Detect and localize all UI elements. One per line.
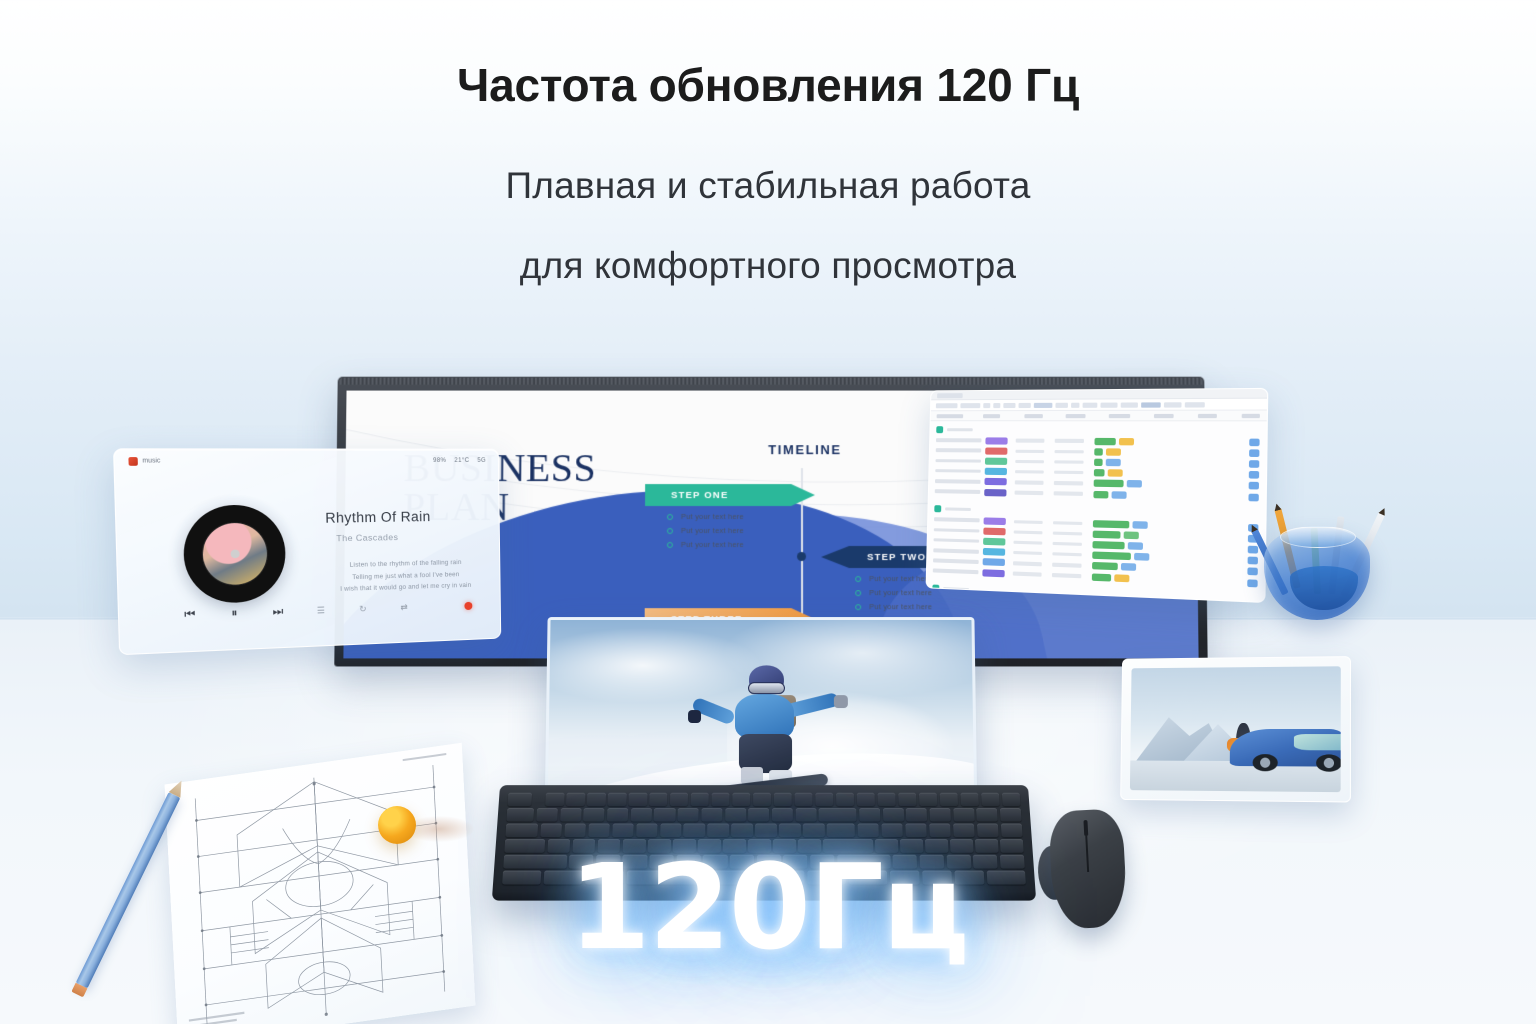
row-label [935,489,981,493]
key[interactable] [507,793,531,806]
mini-bar [1108,469,1123,477]
record-button[interactable] [464,601,472,609]
key[interactable] [929,808,951,821]
toolbar-button[interactable] [1164,402,1182,407]
key[interactable] [755,824,776,837]
cell-text [1055,439,1084,443]
far-bar [1249,438,1259,446]
gantt-bar [1094,469,1105,476]
pencil-tip [1378,507,1387,516]
goggles [748,682,785,694]
group-name [947,428,973,432]
bullet-ring-icon [855,590,861,596]
sheet-group [927,500,1266,593]
car-body [1230,729,1341,767]
left-glove [688,711,701,723]
vinyl-hole [231,550,239,558]
cell-text [1053,542,1082,546]
step-bullets: Put your text here Put your text here Pu… [645,512,815,549]
row-label [936,438,982,442]
key[interactable] [929,824,951,837]
sheet-group [929,421,1267,507]
cell-text [1015,470,1044,474]
key[interactable] [691,793,709,806]
far-bar [1248,546,1258,554]
key[interactable] [803,824,824,837]
gantt-bar [1092,562,1118,570]
key[interactable] [545,793,564,806]
status-badge [984,517,1006,525]
column-header[interactable] [1154,413,1174,417]
spreadsheet-toolbar[interactable] [931,399,1267,412]
cell-text [1013,561,1042,566]
cell-text [1015,480,1044,484]
cell-text [1052,563,1081,568]
cell-text [1054,450,1083,454]
mini-bar [1134,553,1149,561]
row-label [935,459,981,463]
key[interactable] [506,808,534,821]
key[interactable] [772,808,793,821]
toolbar-button[interactable] [983,403,990,408]
key[interactable] [905,824,927,837]
far-bar [1247,579,1257,587]
status-badge [985,437,1007,444]
keyboard-row [505,824,1022,837]
page-title: Частота обновления 120 Гц [0,58,1536,112]
bullet-ring-icon [667,541,673,547]
key[interactable] [566,793,585,806]
pause-icon[interactable]: ⏸ [212,606,256,621]
mini-bar [1127,480,1142,488]
toolbar-button[interactable] [936,403,958,408]
mini-bar [1106,448,1121,455]
status-badge [983,538,1005,546]
key[interactable] [774,793,792,806]
key[interactable] [898,793,917,806]
key[interactable] [794,793,812,806]
status-badge [982,569,1004,577]
cell-text [1015,460,1044,464]
cup-inner-shadow [1290,566,1358,610]
gantt-bar [1092,552,1131,561]
playlist-icon[interactable]: ☰ [299,604,342,617]
column-header[interactable] [1198,413,1216,417]
cell-text [1053,521,1082,525]
key[interactable] [588,824,610,837]
row-label [934,518,980,523]
cell-text [1054,481,1083,485]
mini-bar [1119,438,1134,445]
cell-text [1013,541,1042,545]
key[interactable] [684,824,706,837]
mini-bar [1121,563,1136,571]
list-item: Put your text here [667,526,815,535]
mini-bar [1128,542,1143,550]
row-label [935,469,981,473]
group-color-swatch [936,426,943,433]
row-label [936,449,982,453]
music-window-titlebar: music 98% 21°C 5G [114,449,498,473]
key[interactable] [670,793,688,806]
cell-text [1053,531,1082,535]
key[interactable] [906,808,927,821]
group-color-swatch [934,505,941,512]
status-badge [985,468,1007,475]
key[interactable] [981,793,1000,806]
key[interactable] [636,824,658,837]
cell-text [1052,573,1081,578]
lyric-line: I wish that it would go and let me cry i… [308,581,502,594]
key[interactable] [708,824,729,837]
row-label [934,538,980,543]
status-indicators: 98% 21°C 5G [433,458,486,464]
photo-panel[interactable] [1120,656,1351,802]
toolbar-button[interactable] [993,403,1000,408]
timeline-heading: TIMELINE [675,442,935,457]
lyric-line: Listen to the rhythm of the falling rain [307,558,501,570]
column-header[interactable] [1066,414,1085,418]
music-player-window[interactable]: music 98% 21°C 5G Rhythm Of Rain The Cas… [113,448,501,655]
toolbar-button[interactable] [1003,402,1015,407]
app-name: music [142,458,160,465]
key[interactable] [836,793,854,806]
key[interactable] [919,793,938,806]
toolbar-button[interactable] [1018,402,1030,407]
cup-rim [1280,526,1356,548]
bullet-text: Put your text here [681,540,744,549]
mini-bar [1106,459,1121,466]
hero-subtitle-line-2: для комфортного просмотра [0,245,1536,287]
toolbar-button[interactable] [1121,402,1138,407]
bullet-text: Put your text here [681,512,744,521]
backspace-key[interactable] [819,808,857,821]
car-wheel [1317,755,1341,772]
gantt-bar [1094,459,1103,466]
car-window [1294,734,1341,750]
cell-text [1016,439,1045,443]
far-bar [1249,449,1259,457]
refresh-rate-badge: 120Гц [0,838,1536,976]
bullet-text: Put your text here [869,602,932,611]
gantt-bar [1094,448,1103,455]
toolbar-button[interactable] [1141,402,1161,407]
row-label [933,569,979,574]
row-label [935,479,981,483]
key[interactable] [1000,824,1022,837]
list-item: Put your text here [855,602,1021,611]
next-track-icon[interactable]: ⏭ [256,605,300,620]
key[interactable] [628,793,647,806]
key[interactable] [976,824,998,837]
gantt-bar [1094,437,1115,444]
album-art [182,504,286,604]
keyboard-row [506,808,1021,821]
temperature-status: 21°C [454,458,469,464]
right-glove [834,695,847,707]
battery-status: 98% [433,458,446,464]
key[interactable] [779,824,800,837]
lyric-line: Telling me just what a fool I've been [307,569,501,582]
cell-text [1014,530,1043,534]
mini-bar [1124,531,1139,539]
track-artist: The Cascades [336,532,398,544]
gantt-bar [1092,541,1124,549]
far-bar [1247,568,1257,576]
key[interactable] [859,808,880,821]
list-item: Put your text here [667,512,815,521]
key[interactable] [540,824,562,837]
key[interactable] [607,808,628,821]
cell-text [1013,572,1042,577]
key[interactable] [953,808,975,821]
key-spacer [534,793,544,806]
far-bar [1249,482,1259,490]
far-bar [1249,460,1259,468]
cell-text [1054,460,1083,464]
key[interactable] [725,808,746,821]
mini-bar [1114,574,1129,582]
toolbar-button[interactable] [1071,402,1079,407]
toolbar-button[interactable] [1034,402,1053,407]
key[interactable] [654,808,675,821]
key[interactable] [712,793,730,806]
cell-text [1015,449,1044,453]
list-item: Put your text here [667,540,815,549]
key[interactable] [976,808,998,821]
toolbar-button[interactable] [1100,402,1117,407]
status-badge [984,489,1006,497]
lyrics-panel: Listen to the rhythm of the falling rain… [307,558,501,599]
key[interactable] [731,824,752,837]
key[interactable] [939,793,958,806]
column-header[interactable] [1241,413,1260,417]
status-badge [983,548,1005,556]
tab[interactable] [937,393,963,398]
row-label [934,528,980,533]
bullet-text: Put your text here [869,588,932,597]
bullet-text: Put your text here [681,526,744,535]
status-badge [985,447,1007,454]
track-title: Rhythm Of Rain [325,508,489,526]
gantt-bar [1093,520,1129,528]
jacket [735,694,794,739]
row-label [933,548,979,553]
snowboarder-figure [714,665,816,803]
group-name [945,507,971,511]
spreadsheet-window[interactable] [926,388,1269,603]
gantt-bar [1094,480,1124,488]
bullet-ring-icon [855,604,861,610]
pencil-cup [1258,500,1376,620]
key[interactable] [660,824,682,837]
key[interactable] [795,808,816,821]
timeline-step: STEP ONE Put your text here Put your tex… [645,484,815,554]
bullet-ring-icon [667,514,673,520]
key[interactable] [753,793,771,806]
key[interactable] [564,824,586,837]
key[interactable] [608,793,627,806]
far-bar [1248,557,1258,565]
hero-subtitle-line-1: Плавная и стабильная работа [0,165,1536,207]
key[interactable] [857,824,879,837]
key[interactable] [612,824,634,837]
cell-text [1013,551,1042,555]
bullet-ring-icon [855,576,861,582]
key[interactable] [815,793,833,806]
key[interactable] [560,808,582,821]
key[interactable] [748,808,769,821]
tab-key[interactable] [505,824,538,837]
key[interactable] [877,793,896,806]
cell-text [1054,471,1083,475]
key[interactable] [678,808,699,821]
step-label: STEP ONE [645,484,815,506]
key[interactable] [536,808,558,821]
key[interactable] [953,824,975,837]
key[interactable] [631,808,652,821]
row-label [933,559,979,564]
column-header[interactable] [937,414,964,418]
app-logo: music [128,457,160,466]
photo-image [1130,666,1341,792]
keyboard-row [507,793,1020,806]
toolbar-button[interactable] [960,403,980,408]
bullet-text: Put your text here [869,574,932,583]
toolbar-button[interactable] [1055,402,1068,407]
key[interactable] [1000,808,1022,821]
toolbar-button[interactable] [1083,402,1098,407]
column-header[interactable] [1024,414,1043,418]
mini-bar [1132,521,1147,529]
key[interactable] [732,793,750,806]
key[interactable] [881,824,903,837]
key[interactable] [649,793,668,806]
network-status: 5G [477,458,486,464]
toolbar-button[interactable] [1185,402,1205,407]
cell-text [1054,492,1083,496]
mouse-scroll-wheel[interactable] [1083,820,1088,836]
key[interactable] [701,808,722,821]
key[interactable] [882,808,903,821]
key[interactable] [960,793,979,806]
gantt-bar [1093,530,1121,538]
column-header[interactable] [1108,413,1130,417]
mini-bar [1112,491,1127,499]
far-bar [1249,471,1259,479]
key[interactable] [857,793,876,806]
cell-text [1015,491,1044,495]
key[interactable] [587,793,606,806]
shuffle-icon[interactable]: ⇄ [383,601,424,614]
status-badge [983,527,1005,535]
status-badge [985,458,1007,465]
gantt-bar [1092,573,1111,581]
previous-track-icon[interactable]: ⏮ [167,608,212,623]
cell-text [1052,552,1081,557]
column-header[interactable] [983,414,1000,418]
status-badge [983,559,1005,567]
key[interactable] [827,824,855,837]
bullet-ring-icon [667,527,673,533]
column-headers [931,411,1267,422]
pencil-tip [1273,503,1281,511]
car-wheel [1253,754,1278,771]
gantt-bar [1093,490,1108,498]
repeat-icon[interactable]: ↻ [342,603,384,616]
key[interactable] [1001,793,1020,806]
music-app-icon [128,457,138,466]
key[interactable] [583,808,605,821]
status-badge [984,478,1006,485]
cell-text [1014,520,1043,524]
